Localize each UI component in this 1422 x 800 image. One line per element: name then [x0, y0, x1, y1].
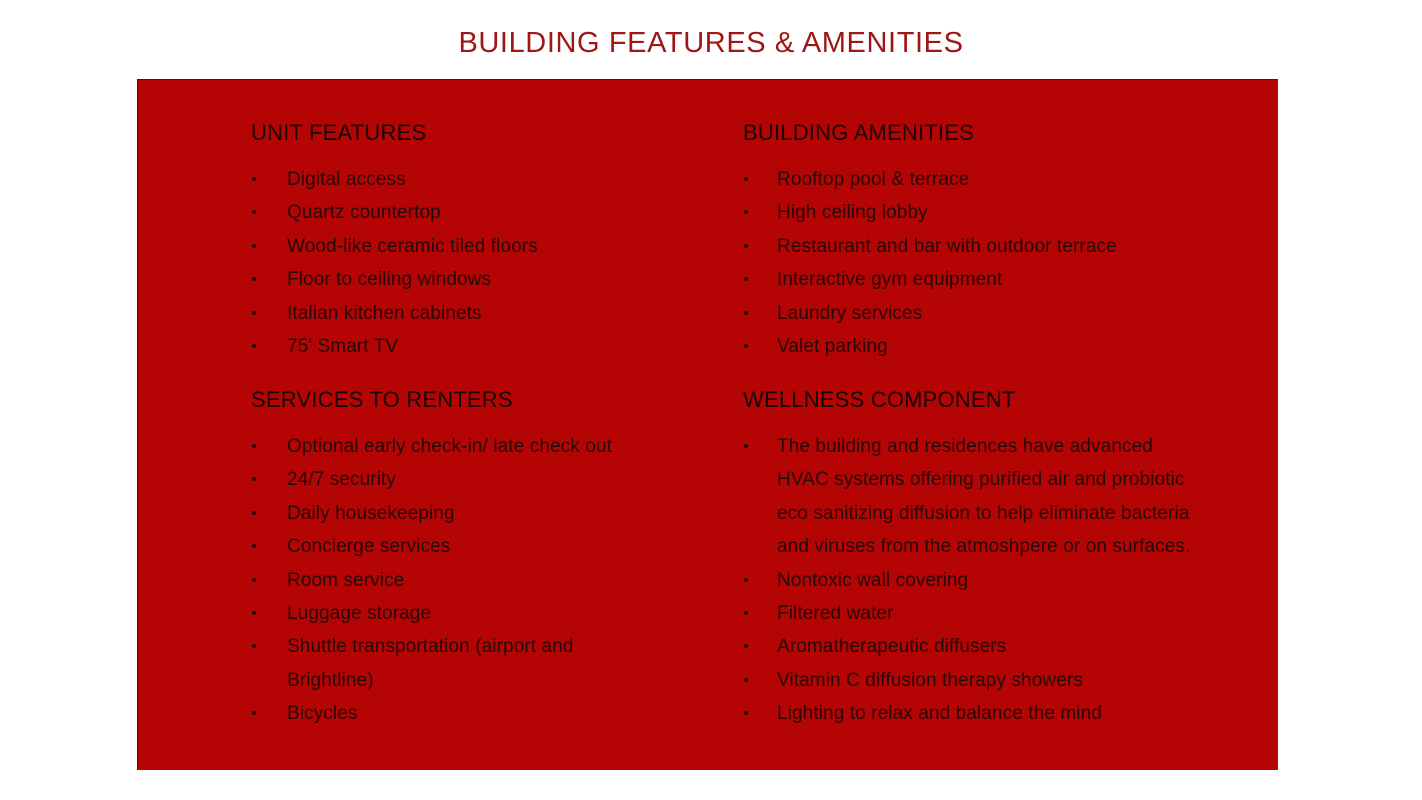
section-wellness-component: WELLNESS COMPONENT The building and resi… — [743, 387, 1223, 731]
bullet-dot-icon — [744, 711, 748, 715]
list-unit-features: Digital access Quartz countertop Wood-li… — [251, 163, 721, 363]
list-item-label: Lighting to relax and balance the mind — [777, 697, 1223, 730]
bullet-dot-icon — [744, 444, 748, 448]
list-item-label: 75' Smart TV — [287, 330, 721, 363]
bullet-dot-icon — [252, 511, 256, 515]
list-item: Italian kitchen cabinets — [251, 297, 721, 330]
bullet-dot-icon — [744, 611, 748, 615]
bullet-dot-icon — [252, 177, 256, 181]
page-title: BUILDING FEATURES & AMENITIES — [0, 24, 1422, 62]
list-item-label: Laundry services — [777, 297, 1223, 330]
list-item-label: Rooftop pool & terrace — [777, 163, 1223, 196]
section-services-to-renters: SERVICES TO RENTERS Optional early check… — [251, 387, 721, 731]
bullet-dot-icon — [252, 711, 256, 715]
list-item: Bicycles — [251, 697, 721, 730]
bullet-dot-icon — [252, 277, 256, 281]
bullet-dot-icon — [744, 244, 748, 248]
list-item: 75' Smart TV — [251, 330, 721, 363]
bullet-dot-icon — [252, 611, 256, 615]
list-item: Concierge services — [251, 530, 721, 563]
list-item-label: Concierge services — [287, 530, 721, 563]
slide-root: BUILDING FEATURES & AMENITIES UNIT FEATU… — [0, 0, 1422, 800]
list-item-label: Restaurant and bar with outdoor terrace — [777, 230, 1223, 263]
list-item-label: Interactive gym equipment — [777, 263, 1223, 296]
bullet-dot-icon — [252, 210, 256, 214]
list-item: Rooftop pool & terrace — [743, 163, 1223, 196]
list-item-label: Room service — [287, 564, 721, 597]
bullet-dot-icon — [744, 344, 748, 348]
list-item: Valet parking — [743, 330, 1223, 363]
bullet-dot-icon — [744, 177, 748, 181]
list-item: Lighting to relax and balance the mind — [743, 697, 1223, 730]
list-services-to-renters: Optional early check-in/ late check out … — [251, 430, 721, 731]
bullet-dot-icon — [252, 311, 256, 315]
bullet-dot-icon — [744, 210, 748, 214]
bullet-dot-icon — [744, 644, 748, 648]
section-heading-services-to-renters: SERVICES TO RENTERS — [251, 387, 721, 413]
list-item: Digital access — [251, 163, 721, 196]
bullet-dot-icon — [744, 311, 748, 315]
list-item-label: Floor to ceiling windows — [287, 263, 721, 296]
section-heading-building-amenities: BUILDING AMENITIES — [743, 120, 1223, 146]
list-item: Daily housekeeping — [251, 497, 721, 530]
right-column: BUILDING AMENITIES Rooftop pool & terrac… — [743, 80, 1223, 770]
list-building-amenities: Rooftop pool & terrace High ceiling lobb… — [743, 163, 1223, 363]
section-heading-unit-features: UNIT FEATURES — [251, 120, 721, 146]
list-item-label: The building and residences have advance… — [777, 430, 1192, 564]
bullet-dot-icon — [252, 244, 256, 248]
list-item: Quartz countertop — [251, 196, 721, 229]
list-item-label: High ceiling lobby — [777, 196, 1223, 229]
list-item-label: Digital access — [287, 163, 721, 196]
list-item: Aromatherapeutic diffusers — [743, 630, 1223, 663]
bullet-dot-icon — [252, 644, 256, 648]
list-item-label: Bicycles — [287, 697, 721, 730]
list-item: Vitamin C diffusion therapy showers — [743, 664, 1223, 697]
list-wellness-component: The building and residences have advance… — [743, 430, 1223, 731]
list-item-label: Optional early check-in/ late check out — [287, 430, 721, 463]
left-column: UNIT FEATURES Digital access Quartz coun… — [251, 80, 721, 770]
bullet-dot-icon — [744, 678, 748, 682]
content-panel: UNIT FEATURES Digital access Quartz coun… — [137, 79, 1278, 770]
list-item: 24/7 security — [251, 463, 721, 496]
list-item: Filtered water — [743, 597, 1223, 630]
list-item: Luggage storage — [251, 597, 721, 630]
list-item-label: 24/7 security — [287, 463, 721, 496]
section-heading-wellness-component: WELLNESS COMPONENT — [743, 387, 1223, 413]
list-item-label: Wood-like ceramic tiled floors — [287, 230, 721, 263]
list-item: Nontoxic wall covering — [743, 564, 1223, 597]
bullet-dot-icon — [252, 477, 256, 481]
bullet-dot-icon — [252, 444, 256, 448]
section-building-amenities: BUILDING AMENITIES Rooftop pool & terrac… — [743, 120, 1223, 363]
list-item: Optional early check-in/ late check out — [251, 430, 721, 463]
list-item-label: Quartz countertop — [287, 196, 721, 229]
bullet-dot-icon — [252, 544, 256, 548]
list-item-label: Luggage storage — [287, 597, 721, 630]
section-unit-features: UNIT FEATURES Digital access Quartz coun… — [251, 120, 721, 363]
list-item: Laundry services — [743, 297, 1223, 330]
bullet-dot-icon — [744, 277, 748, 281]
list-item-label: Daily housekeeping — [287, 497, 721, 530]
list-item: Shuttle transportation (airport and Brig… — [251, 630, 721, 697]
list-item: High ceiling lobby — [743, 196, 1223, 229]
list-item: Restaurant and bar with outdoor terrace — [743, 230, 1223, 263]
list-item: Room service — [251, 564, 721, 597]
list-item-label: Filtered water — [777, 597, 1223, 630]
bullet-dot-icon — [252, 578, 256, 582]
bullet-dot-icon — [252, 344, 256, 348]
panel-inner: UNIT FEATURES Digital access Quartz coun… — [138, 80, 1278, 770]
list-item: Interactive gym equipment — [743, 263, 1223, 296]
bullet-dot-icon — [744, 578, 748, 582]
list-item-label: Shuttle transportation (airport and Brig… — [287, 630, 587, 697]
list-item-label: Vitamin C diffusion therapy showers — [777, 664, 1223, 697]
list-item: The building and residences have advance… — [743, 430, 1223, 564]
list-item-label: Valet parking — [777, 330, 1223, 363]
list-item: Floor to ceiling windows — [251, 263, 721, 296]
list-item-label: Aromatherapeutic diffusers — [777, 630, 1223, 663]
list-item-label: Italian kitchen cabinets — [287, 297, 721, 330]
list-item-label: Nontoxic wall covering — [777, 564, 1223, 597]
list-item: Wood-like ceramic tiled floors — [251, 230, 721, 263]
